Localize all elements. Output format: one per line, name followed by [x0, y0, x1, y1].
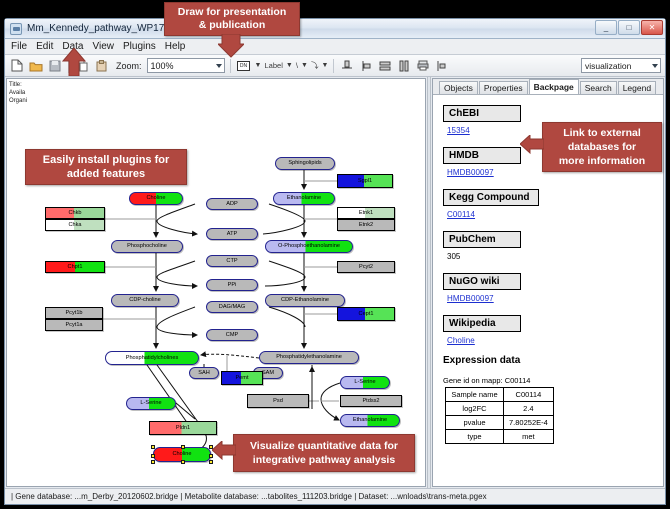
node-label: Sgpl1	[358, 178, 372, 185]
callout-link-arrow	[520, 135, 544, 161]
visualization-value: visualization	[585, 61, 631, 71]
gene-node-chkb[interactable]: Chkb	[45, 207, 105, 219]
callout-plugins: Easily install plugins for added feature…	[25, 149, 187, 185]
visualization-combobox[interactable]: visualization	[581, 58, 661, 73]
expr-value: 7.80252E-4	[504, 416, 554, 430]
node-label: Cept1	[359, 311, 374, 318]
db-header-hmdb: HMDB	[443, 147, 521, 164]
metabolite-node-ppi[interactable]: PPi	[206, 279, 258, 291]
selection-handle[interactable]	[151, 460, 155, 464]
db-header-pubchem: PubChem	[443, 231, 521, 248]
toolbar-separator	[333, 59, 334, 73]
statusbar: | Gene database: ...m_Derby_20120602.bri…	[5, 488, 665, 504]
metabolite-node-cmp[interactable]: CMP	[206, 329, 258, 341]
application-window: Mm_Kennedy_pathway_WP1771_45176.gpml _ □…	[4, 18, 666, 505]
gene-node-cept1[interactable]: Cept1	[337, 307, 395, 321]
node-label: Phosphatidylethanolamine	[276, 354, 342, 361]
db-header-nugo: NuGO wiki	[443, 273, 521, 290]
node-label: Pemt	[235, 375, 248, 382]
node-label: PPi	[228, 282, 237, 289]
node-label: Chpt1	[68, 264, 83, 271]
callout-draw-arrow	[218, 34, 244, 58]
align-columns-icon[interactable]	[396, 58, 412, 74]
db-header-wikipedia: Wikipedia	[443, 315, 521, 332]
node-label: Choline	[173, 451, 192, 458]
node-label: L-Serine	[354, 379, 375, 386]
table-row: type met	[446, 430, 554, 444]
align-left-icon[interactable]	[358, 58, 374, 74]
statusbar-text: | Gene database: ...m_Derby_20120602.bri…	[11, 492, 487, 501]
app-icon	[10, 23, 22, 35]
gene-node-etnk2[interactable]: Etnk2	[337, 219, 395, 231]
db-link-kegg[interactable]: C00114	[447, 210, 663, 219]
node-label: Pcyt1a	[65, 322, 82, 329]
metabolite-node-atp[interactable]: ATP	[206, 228, 258, 240]
node-label: Etnk2	[359, 222, 373, 229]
metabolite-node-sah[interactable]: SAH	[189, 367, 219, 379]
node-label: Pcyt1b	[65, 310, 82, 317]
chevron-down-icon[interactable]: ▼	[321, 62, 328, 69]
tab-objects[interactable]: Objects	[439, 81, 478, 94]
callout-visualize: Visualize quantitative data for integrat…	[233, 434, 415, 472]
node-label: Chkb	[68, 210, 81, 217]
toolbar[interactable]: Zoom: 100% DN ▼ Label ▼ \ ▼ ⤵ ▼	[5, 55, 665, 77]
table-row: log2FC 2.4	[446, 402, 554, 416]
metabolite-node-phosphocholine[interactable]: Phosphocholine	[111, 240, 183, 253]
window-controls[interactable]: _ □ ✕	[595, 20, 663, 35]
expr-key: log2FC	[446, 402, 504, 416]
selection-handle[interactable]	[151, 454, 155, 458]
selection-handle[interactable]	[181, 460, 185, 464]
table-row: pvalue 7.80252E-4	[446, 416, 554, 430]
metabolite-node-sphingolipids[interactable]: Sphingolipids	[275, 157, 335, 170]
node-label: SAH	[198, 370, 210, 377]
db-header-chebi: ChEBI	[443, 105, 521, 122]
node-label: Pldn1	[176, 425, 190, 432]
metabolite-node-l-serine-left[interactable]: L-Serine	[126, 397, 176, 410]
tab-backpage[interactable]: Backpage	[529, 79, 579, 94]
zoom-label: Zoom:	[116, 61, 142, 71]
callout-draw-text: Draw for presentation & publication	[178, 6, 287, 32]
gene-node-sgpl1[interactable]: Sgpl1	[337, 174, 393, 188]
metabolite-node-cdp-choline[interactable]: CDP-choline	[111, 294, 179, 307]
node-label: Psd	[273, 398, 283, 405]
maximize-button[interactable]: □	[618, 20, 640, 35]
node-label: Ethanolamine	[353, 417, 387, 424]
node-label: CMP	[226, 332, 238, 339]
tab-search[interactable]: Search	[580, 81, 617, 94]
selection-handle[interactable]	[181, 445, 185, 449]
pane-splitter[interactable]	[427, 77, 431, 488]
metabolite-node-ethanolamine-right[interactable]: Ethanolamine	[340, 414, 400, 427]
callout-link-text: Link to external databases for more info…	[559, 126, 645, 168]
menu-edit[interactable]: Edit	[36, 41, 53, 52]
node-label: Choline	[147, 195, 166, 202]
gene-node-pcyt1a[interactable]: Pcyt1a	[45, 319, 103, 331]
pathway-canvas[interactable]: Title: Availa Organi	[6, 78, 426, 487]
expr-value: met	[504, 430, 554, 444]
save-icon[interactable]	[47, 58, 63, 74]
node-label: Ethanolamine	[287, 195, 321, 202]
gene-node-pldn1[interactable]: Pldn1	[149, 421, 217, 435]
metabolite-node-phosphatidylcholines[interactable]: Phosphatidylcholines	[105, 351, 199, 365]
callout-draw: Draw for presentation & publication	[164, 2, 300, 36]
line-tool-icon[interactable]: \	[296, 61, 298, 70]
metabolite-node-o-phosphoethanolamine[interactable]: O-Phosphoethanolamine	[265, 240, 353, 253]
node-label: ADP	[226, 201, 238, 208]
expr-key: Sample name	[446, 388, 504, 402]
side-panel-tabs[interactable]: Objects Properties Backpage Search Legen…	[433, 79, 663, 95]
metabolite-node-choline-top[interactable]: Choline	[129, 192, 183, 205]
menu-view[interactable]: View	[92, 41, 114, 52]
close-button[interactable]: ✕	[641, 20, 663, 35]
table-row: Sample name C00114	[446, 388, 554, 402]
screenshot-root: Mm_Kennedy_pathway_WP1771_45176.gpml _ □…	[0, 0, 670, 509]
paste-icon[interactable]	[93, 58, 109, 74]
zoom-value: 100%	[151, 61, 174, 71]
expr-value: 2.4	[504, 402, 554, 416]
callout-visualize-text: Visualize quantitative data for integrat…	[250, 439, 398, 467]
chevron-down-icon[interactable]: ▼	[255, 62, 262, 69]
gene-node-chpt1[interactable]: Chpt1	[45, 261, 105, 273]
node-label: Chka	[68, 222, 81, 229]
node-label: L-Serine	[140, 400, 161, 407]
db-link-nugo[interactable]: HMDB00097	[447, 294, 663, 303]
menubar[interactable]: File Edit Data View Plugins Help	[5, 39, 665, 55]
new-file-icon[interactable]	[9, 58, 25, 74]
print-icon[interactable]	[415, 58, 431, 74]
callout-visualize-arrow	[212, 441, 236, 467]
tab-properties[interactable]: Properties	[479, 81, 528, 94]
node-label: CDP-choline	[129, 297, 160, 304]
gene-node-pcyt2[interactable]: Pcyt2	[337, 261, 395, 273]
datanode-icon[interactable]: DN	[236, 58, 252, 74]
gene-node-ptdss2[interactable]: Ptdss2	[340, 395, 402, 407]
gene-node-pemt[interactable]: Pemt	[221, 371, 263, 385]
node-label: Sphingolipids	[288, 160, 321, 167]
db-value-pubchem: 305	[447, 252, 663, 261]
gene-node-pcyt1b[interactable]: Pcyt1b	[45, 307, 103, 319]
callout-plugins-arrow	[62, 48, 86, 76]
chevron-down-icon[interactable]: ▼	[301, 62, 308, 69]
node-label: DAG/MAG	[219, 304, 245, 311]
toolbar-separator	[230, 59, 231, 73]
expr-value: C00114	[504, 388, 554, 402]
gene-node-chka[interactable]: Chka	[45, 219, 105, 231]
node-label: ATP	[227, 231, 237, 238]
gene-node-psd[interactable]: Psd	[247, 394, 309, 408]
menu-file[interactable]: File	[11, 41, 27, 52]
minimize-button[interactable]: _	[595, 20, 617, 35]
metabolite-node-choline-selected[interactable]: Choline	[153, 447, 211, 462]
align-rows-icon[interactable]	[377, 58, 393, 74]
align-top-icon[interactable]	[339, 58, 355, 74]
gene-id-line: Gene id on mapp: C00114	[443, 376, 663, 385]
window-titlebar: Mm_Kennedy_pathway_WP1771_45176.gpml _ □…	[5, 19, 665, 39]
metabolite-node-ctp[interactable]: CTP	[206, 255, 258, 267]
metabolite-node-l-serine-right[interactable]: L-Serine	[340, 376, 390, 389]
node-label: Ptdss2	[362, 398, 379, 405]
selection-handle[interactable]	[151, 445, 155, 449]
open-folder-icon[interactable]	[28, 58, 44, 74]
expr-key: type	[446, 430, 504, 444]
metabolite-node-dag-mag[interactable]: DAG/MAG	[206, 301, 258, 313]
callout-plugins-text: Easily install plugins for added feature…	[43, 153, 170, 181]
expression-table: Sample name C00114 log2FC 2.4 pvalue 7.8…	[445, 387, 554, 444]
chevron-down-icon	[216, 64, 222, 68]
node-label: Phosphocholine	[127, 243, 167, 250]
db-link-wikipedia[interactable]: Choline	[447, 336, 663, 345]
node-label: SAM	[262, 370, 274, 377]
expr-key: pvalue	[446, 416, 504, 430]
node-label: Etnk1	[359, 210, 373, 217]
metabolite-node-adp[interactable]: ADP	[206, 198, 258, 210]
menu-plugins[interactable]: Plugins	[123, 41, 156, 52]
tab-legend[interactable]: Legend	[618, 81, 656, 94]
db-header-kegg: Kegg Compound	[443, 189, 539, 206]
node-label: Phosphatidylcholines	[126, 355, 179, 362]
menu-help[interactable]: Help	[165, 41, 186, 52]
callout-link: Link to external databases for more info…	[542, 122, 662, 172]
label-tool-label[interactable]: Label	[265, 61, 283, 70]
node-label: CDP-Ethanolamine	[281, 297, 329, 304]
expression-data-title: Expression data	[443, 355, 663, 366]
distribute-icon[interactable]	[434, 58, 450, 74]
chevron-down-icon	[652, 64, 658, 68]
metabolite-node-ethanolamine-top[interactable]: Ethanolamine	[273, 192, 335, 205]
node-label: Pcyt2	[359, 264, 373, 271]
shape-tool-icon[interactable]: ⤵	[311, 60, 319, 71]
zoom-combobox[interactable]: 100%	[147, 58, 225, 73]
node-label: CTP	[226, 258, 237, 265]
metabolite-node-phosphatidylethanolamine[interactable]: Phosphatidylethanolamine	[259, 351, 359, 364]
gene-node-etnk1[interactable]: Etnk1	[337, 207, 395, 219]
chevron-down-icon[interactable]: ▼	[286, 62, 293, 69]
metabolite-node-cdp-ethanolamine[interactable]: CDP-Ethanolamine	[265, 294, 345, 307]
node-label: O-Phosphoethanolamine	[278, 243, 340, 250]
